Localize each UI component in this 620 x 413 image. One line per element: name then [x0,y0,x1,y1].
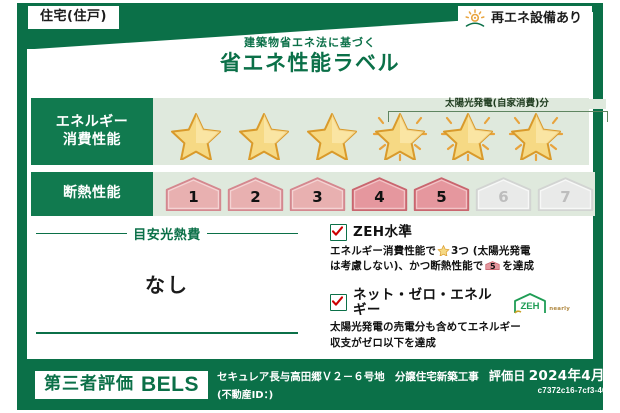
svg-text:ZEH: ZEH [521,301,540,312]
energy-label-line1: エネルギー [56,114,129,132]
insulation-label-cell: 断熱性能 [31,172,153,216]
zeh-logo-icon: ZEH nearly [512,292,570,314]
insulation-level-1-number: 1 [188,190,198,211]
zeh-standard-item: ZEH水準 エネルギー消費性能で3つ (太陽光発電は考慮しない)、かつ断熱性能で… [330,224,570,275]
energy-label-line2: 消費性能 [63,132,121,150]
energy-performance-label-cell: エネルギー 消費性能 [31,98,153,165]
utility-cost-heading: 目安光熱費 [36,224,298,243]
property-name: セキュレア長与高田郷Ｖ２－６号地 [217,371,385,384]
insulation-level-4: 4 [350,177,409,211]
energy-performance-body: 太陽光発電(自家消費)分 [153,98,589,165]
inline-star-icon [437,245,450,258]
renewable-tag-label: 再エネ設備あり [491,12,582,26]
sun-icon [464,9,486,29]
footer-bar: 第三者評価 BELS セキュレア長与高田郷Ｖ２－６号地 分譲住宅新築工事 評価日… [17,359,603,410]
insulation-level-4-number: 4 [374,190,384,211]
net-zero-desc-line1: 太陽光発電の売電分も含めてエネルギー [330,321,521,333]
insulation-level-7: 7 [536,177,595,211]
star-6-solar [503,108,569,162]
utility-cost-block: 目安光熱費 なし [36,224,298,340]
insulation-performance-row: 断熱性能 1 2 [31,172,589,216]
zeh-standard-title: ZEH水準 [353,225,412,240]
star-2 [231,108,297,162]
insulation-level-1: 1 [164,177,223,211]
energy-performance-row: エネルギー 消費性能 太陽光発電(自家消費)分 [31,98,589,165]
insulation-level-5-number: 5 [436,190,446,211]
insulation-level-3: 3 [288,177,347,211]
building-type-tag-label: 住宅(住戸) [40,9,107,24]
energy-performance-label: 住宅(住戸) 再エネ設備あり 建築物省エネ法に基づく 省エネ性能ラベル [0,0,620,413]
zeh-standard-description: エネルギー消費性能で3つ (太陽光発電は考慮しない)、かつ断熱性能で5を達成 [330,244,570,275]
checkbox-checked-icon [330,294,347,311]
insulation-level-3-number: 3 [312,190,322,211]
star-5-solar [435,108,501,162]
net-zero-description: 太陽光発電の売電分も含めてエネルギー収支がゼロ以下を達成 [330,320,570,351]
net-zero-header: ネット・ゼロ・エネルギー ZEH nearly [330,288,570,318]
footer-info: セキュレア長与高田郷Ｖ２－６号地 分譲住宅新築工事 評価日2024年4月24日 … [217,368,620,401]
checkbox-checked-icon [330,224,347,241]
evaluation-date-label: 評価日 [489,369,526,383]
utility-cost-value: なし [36,269,298,298]
inline-badge-value: 5 [485,261,500,273]
star-4-solar [367,108,433,162]
insulation-level-2-number: 2 [250,190,260,211]
heading-rule-left [36,233,127,235]
star-3 [299,108,365,162]
zeh-logo-sub: nearly [549,306,570,314]
net-zero-desc-line2: 収支がゼロ以下を達成 [330,337,436,349]
net-zero-energy-item: ネット・ゼロ・エネルギー ZEH nearly 太陽光発電の売電分も含めてエネル… [330,288,570,351]
construction-type: 分譲住宅新築工事 [395,371,479,384]
bels-badge: 第三者評価 BELS [35,371,208,399]
zeh-standard-header: ZEH水準 [330,224,570,241]
zeh-block: ZEH水準 エネルギー消費性能で3つ (太陽光発電は考慮しない)、かつ断熱性能で… [330,224,570,360]
zeh-desc-part4: を達成 [502,260,534,272]
bels-label: BELS [141,374,199,395]
third-party-eval-label: 第三者評価 [44,375,134,394]
insulation-level-5: 5 [412,177,471,211]
insulation-level-6: 6 [474,177,533,211]
zeh-desc-part2: 3つ (太陽光発電 [451,245,531,257]
renewable-equipment-tag: 再エネ設備あり [458,6,592,33]
building-type-tag: 住宅(住戸) [28,6,119,29]
zeh-desc-part3: は考慮しない)、かつ断熱性能で [330,260,483,272]
insulation-label: 断熱性能 [63,185,121,203]
footer-info-line1: セキュレア長与高田郷Ｖ２－６号地 分譲住宅新築工事 評価日2024年4月24日 [217,368,620,385]
star-1 [163,108,229,162]
insulation-scale: 1 2 3 [153,177,595,211]
utility-cost-bottom-rule [36,332,298,334]
zeh-desc-part1: エネルギー消費性能で [330,245,436,257]
insulation-level-6-number: 6 [498,190,508,211]
insulation-body: 1 2 3 [153,172,595,216]
document-hash: c7372c16-7cf3-46ac [538,386,616,395]
star-rating [153,108,569,162]
insulation-level-7-number: 7 [560,190,570,211]
utility-cost-heading-label: 目安光熱費 [133,224,201,243]
evaluation-date-value: 2024年4月24日 [529,368,620,384]
evaluation-date: 評価日2024年4月24日 [489,368,620,385]
heading-rule-right [207,233,298,235]
insulation-level-2: 2 [226,177,285,211]
inline-insulation-badge: 5 [485,259,500,272]
net-zero-title: ネット・ゼロ・エネルギー [353,288,502,318]
